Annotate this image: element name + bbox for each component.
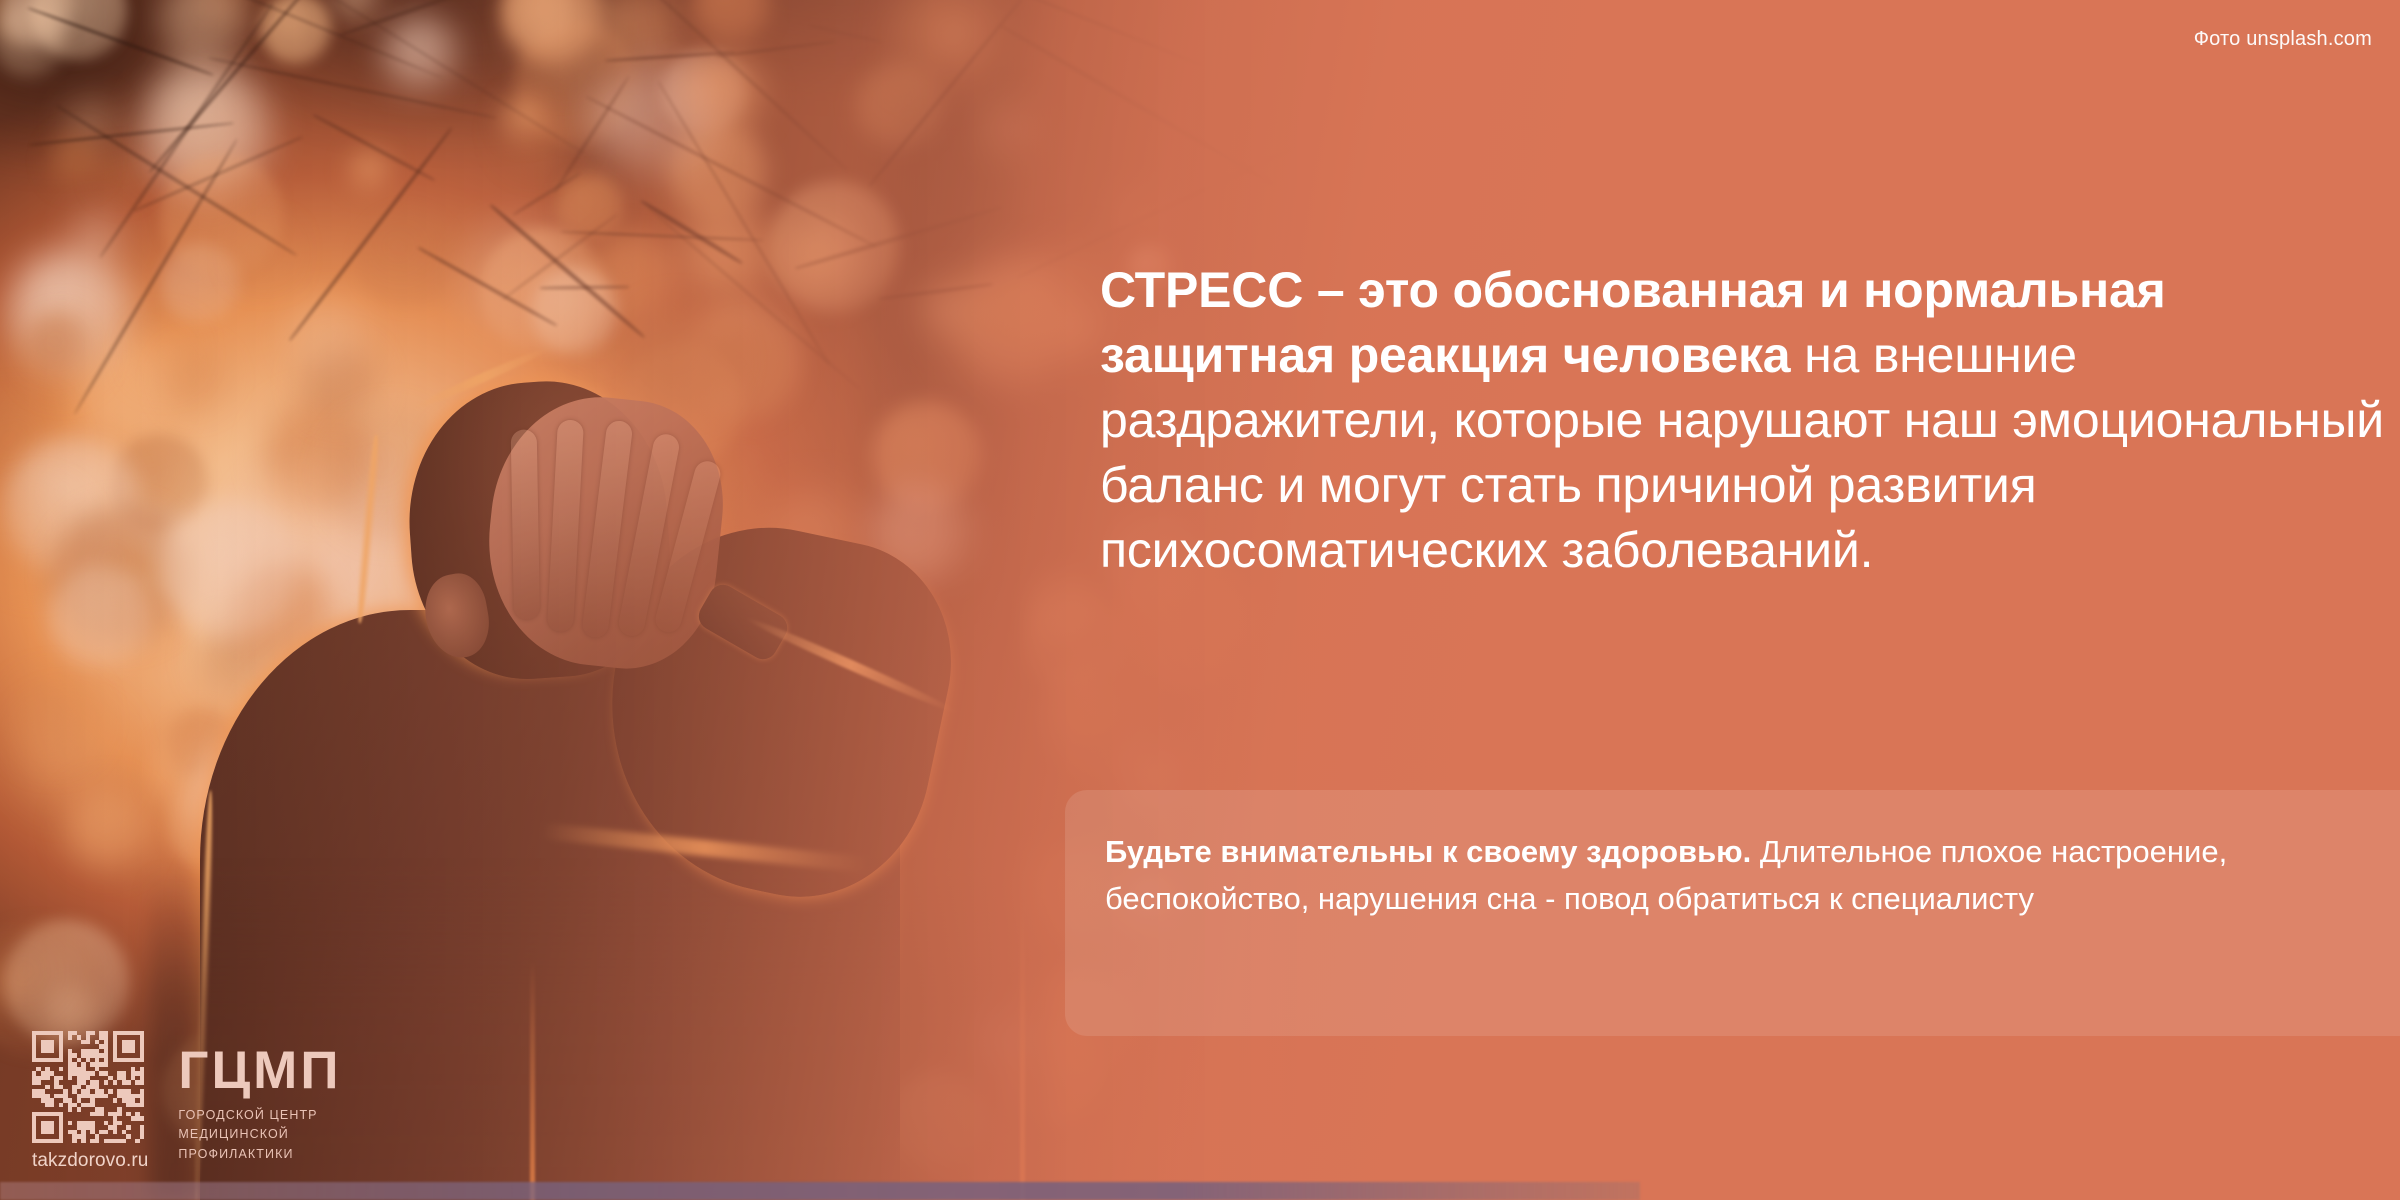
qr-code[interactable] (32, 1031, 144, 1143)
callout-text: Будьте внимательны к своему здоровью. Дл… (1105, 828, 2400, 922)
qr-section: takzdorovo.ru (32, 1031, 148, 1172)
brand-mark: ГЦМП (178, 1044, 341, 1097)
brand-subtitle-line1: ГОРОДСКОЙ ЦЕНТР (178, 1106, 341, 1125)
callout-bold: Будьте внимательны к своему здоровью. (1105, 834, 1751, 869)
poster-canvas: Фото unsplash.com СТРЕСС – это обоснован… (0, 0, 2400, 1200)
bottom-accent-band (0, 1182, 1640, 1200)
photo-credit: Фото unsplash.com (2194, 28, 2372, 51)
headline: СТРЕСС – это обоснованная и нормальная з… (1100, 258, 2390, 583)
brand-subtitle: ГОРОДСКОЙ ЦЕНТР МЕДИЦИНСКОЙ ПРОФИЛАКТИКИ (178, 1106, 341, 1164)
brand-subtitle-line3: ПРОФИЛАКТИКИ (178, 1145, 341, 1164)
brand-lockup: ГЦМП ГОРОДСКОЙ ЦЕНТР МЕДИЦИНСКОЙ ПРОФИЛА… (178, 1044, 341, 1172)
brand-subtitle-line2: МЕДИЦИНСКОЙ (178, 1125, 341, 1144)
logo-block: takzdorovo.ru ГЦМП ГОРОДСКОЙ ЦЕНТР МЕДИЦ… (32, 1031, 341, 1172)
qr-url-label: takzdorovo.ru (32, 1150, 148, 1172)
